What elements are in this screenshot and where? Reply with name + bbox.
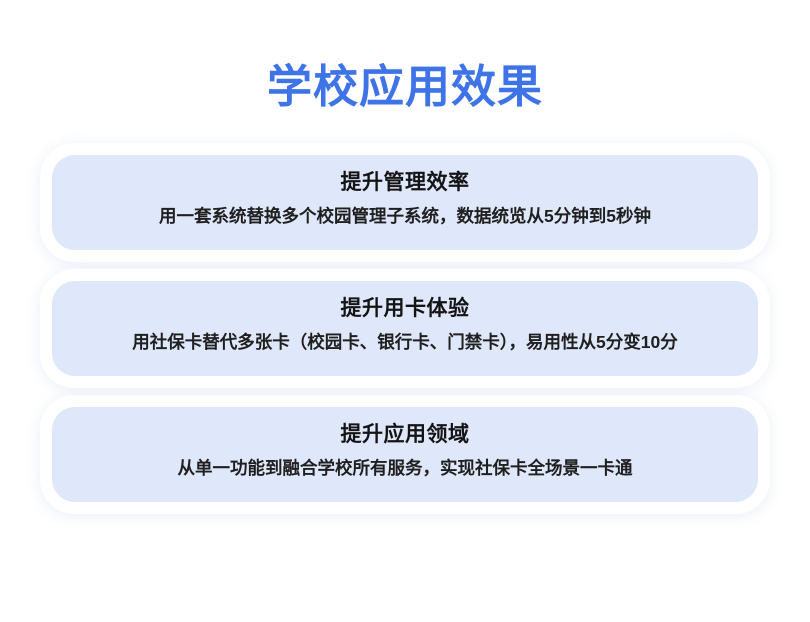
benefit-card-body: 提升用卡体验 用社保卡替代多张卡（校园卡、银行卡、门禁卡），易用性从5分变10分	[52, 281, 758, 376]
benefit-card-body: 提升应用领域 从单一功能到融合学校所有服务，实现社保卡全场景一卡通	[52, 407, 758, 502]
slide-canvas: 学校应用效果 提升管理效率 用一套系统替换多个校园管理子系统，数据统览从5分钟到…	[0, 0, 810, 622]
benefit-card-body: 提升管理效率 用一套系统替换多个校园管理子系统，数据统览从5分钟到5秒钟	[52, 155, 758, 250]
page-title: 学校应用效果	[0, 61, 810, 113]
benefit-card-title: 提升应用领域	[70, 421, 740, 449]
benefit-card[interactable]: 提升管理效率 用一套系统替换多个校园管理子系统，数据统览从5分钟到5秒钟	[40, 143, 770, 262]
benefit-card-description: 用社保卡替代多张卡（校园卡、银行卡、门禁卡），易用性从5分变10分	[70, 329, 740, 355]
benefit-card-description: 用一套系统替换多个校园管理子系统，数据统览从5分钟到5秒钟	[70, 203, 740, 229]
benefit-card[interactable]: 提升应用领域 从单一功能到融合学校所有服务，实现社保卡全场景一卡通	[40, 395, 770, 514]
benefit-card[interactable]: 提升用卡体验 用社保卡替代多张卡（校园卡、银行卡、门禁卡），易用性从5分变10分	[40, 269, 770, 388]
benefit-card-list: 提升管理效率 用一套系统替换多个校园管理子系统，数据统览从5分钟到5秒钟 提升用…	[0, 143, 810, 521]
benefit-card-title: 提升用卡体验	[70, 295, 740, 323]
benefit-card-description: 从单一功能到融合学校所有服务，实现社保卡全场景一卡通	[70, 455, 740, 481]
benefit-card-title: 提升管理效率	[70, 169, 740, 197]
